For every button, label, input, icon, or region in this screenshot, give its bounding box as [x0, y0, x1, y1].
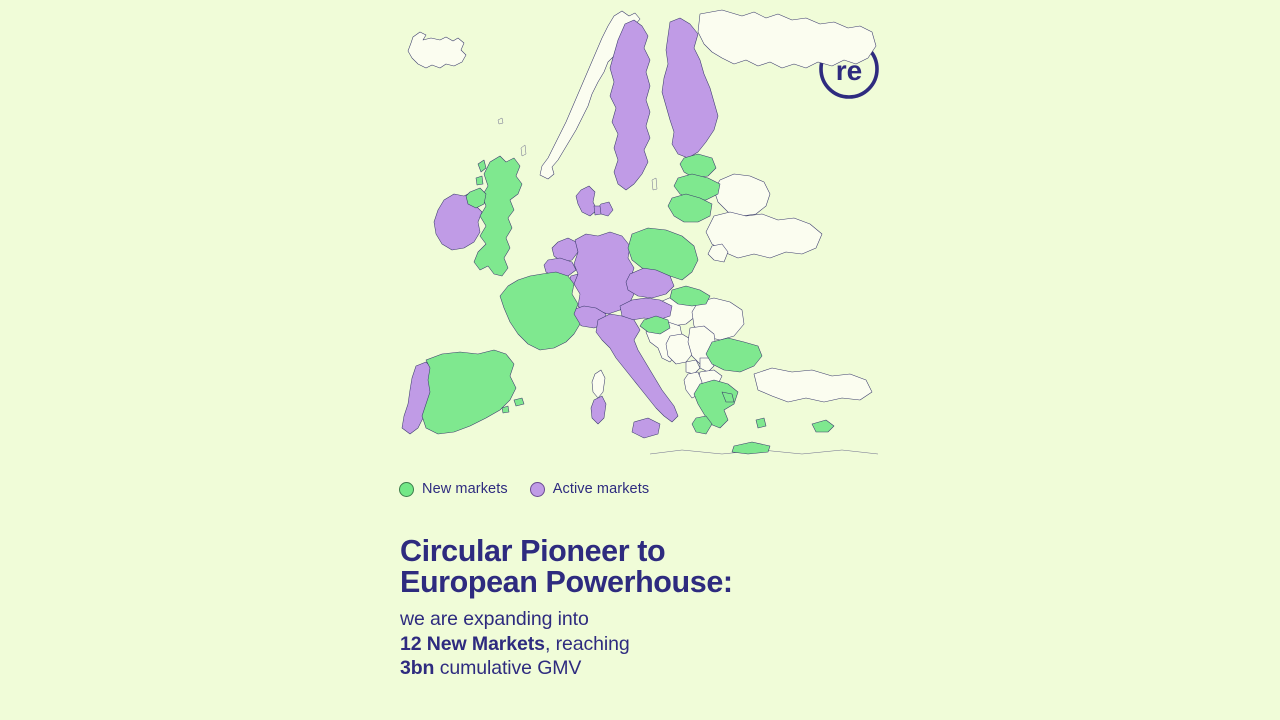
country-united-kingdom	[474, 156, 522, 276]
country-russia-west	[698, 10, 876, 68]
island-sardinia	[591, 396, 606, 424]
island-sicily	[632, 418, 660, 438]
legend-label-new-markets: New markets	[422, 481, 508, 497]
subtext-line-3: 3bn cumulative GMV	[400, 656, 960, 681]
country-iceland	[408, 32, 466, 68]
island-balearics	[514, 398, 524, 406]
map-legend: New markets Active markets	[399, 481, 649, 497]
coast-faroe	[498, 118, 503, 124]
subtext-line-2-rest: , reaching	[545, 633, 630, 655]
copy-block: Circular Pioneer to European Powerhouse:…	[400, 536, 960, 681]
country-denmark-funen	[594, 206, 601, 215]
legend-item-active-markets: Active markets	[530, 481, 649, 497]
coast-gotland	[652, 178, 657, 190]
subtext-line-3-rest: cumulative GMV	[434, 657, 581, 679]
country-turkey	[754, 368, 872, 402]
country-estonia	[680, 154, 716, 178]
country-bulgaria	[706, 338, 762, 372]
country-belarus	[714, 174, 770, 216]
subtext-line-2: 12 New Markets, reaching	[400, 632, 960, 657]
europe-map	[382, 2, 882, 470]
subtext-markets-count: 12 New Markets	[400, 633, 545, 655]
headline-line-1: Circular Pioneer to	[400, 536, 960, 567]
subtext-gmv-amount: 3bn	[400, 657, 434, 679]
country-germany	[574, 232, 636, 314]
subtext-line-1: we are expanding into	[400, 607, 960, 632]
legend-swatch-purple-dot-icon	[530, 482, 545, 497]
island-skye	[476, 176, 483, 185]
coast-shetland	[521, 145, 526, 156]
island-crete	[732, 442, 770, 454]
island-rhodes	[756, 418, 766, 428]
island-cyprus	[812, 420, 834, 432]
island-corsica	[592, 370, 605, 398]
country-denmark	[576, 186, 597, 216]
country-france	[500, 272, 580, 350]
island-hebrides	[478, 160, 486, 172]
headline-line-2: European Powerhouse:	[400, 567, 960, 598]
legend-label-active-markets: Active markets	[553, 481, 649, 497]
slide-canvas: re	[0, 0, 1280, 720]
legend-item-new-markets: New markets	[399, 481, 508, 497]
legend-swatch-green-dot-icon	[399, 482, 414, 497]
country-netherlands	[552, 238, 578, 262]
country-spain	[422, 350, 516, 434]
